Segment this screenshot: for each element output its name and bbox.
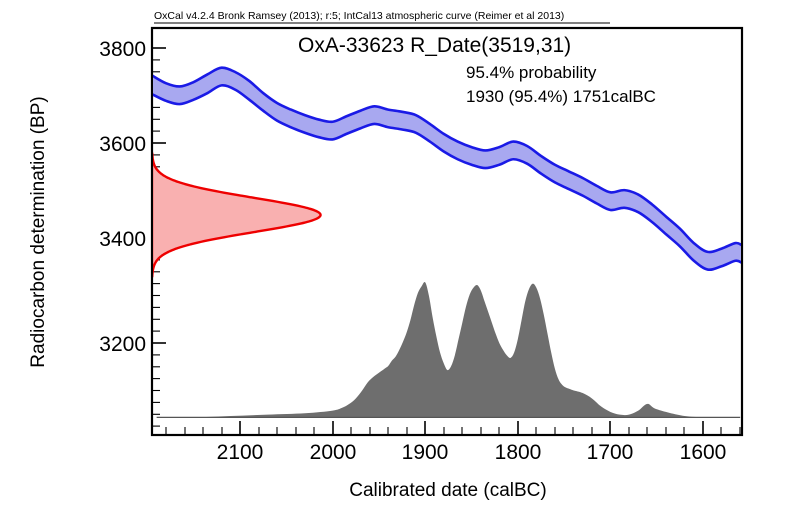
probability-label: 95.4% probability — [466, 63, 597, 82]
y-axis-title: Radiocarbon determination (BP) — [28, 96, 49, 367]
x-tick-label-1800: 1800 — [495, 441, 542, 464]
y-tick-label-3800: 3800 — [99, 38, 146, 61]
x-tick-label-2100: 2100 — [217, 441, 264, 464]
chart-svg: OxCal v4.2.4 Bronk Ramsey (2013); r:5; I… — [0, 0, 785, 516]
oxcal-calibration-plot: OxCal v4.2.4 Bronk Ramsey (2013); r:5; I… — [0, 0, 785, 516]
chart-background — [0, 0, 785, 516]
x-tick-label-2000: 2000 — [310, 441, 357, 464]
y-tick-label-3400: 3400 — [99, 228, 146, 251]
x-tick-label-1700: 1700 — [587, 441, 634, 464]
y-tick-label-3200: 3200 — [99, 333, 146, 356]
y-tick-label-3600: 3600 — [99, 133, 146, 156]
x-axis-title: Calibrated date (calBC) — [349, 480, 546, 501]
x-tick-label-1900: 1900 — [402, 441, 449, 464]
x-tick-label-1600: 1600 — [680, 441, 727, 464]
chart-title: OxA-33623 R_Date(3519,31) — [298, 34, 571, 57]
hpd-range-label: 1930 (95.4%) 1751calBC — [466, 87, 656, 106]
oxcal-credit-text: OxCal v4.2.4 Bronk Ramsey (2013); r:5; I… — [154, 10, 564, 22]
